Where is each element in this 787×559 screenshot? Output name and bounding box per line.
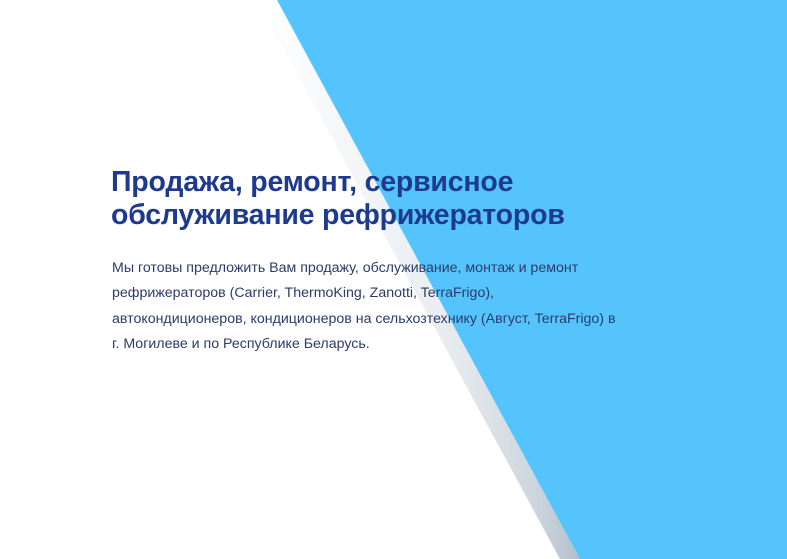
hero-content: Продажа, ремонт, сервисное обслуживание … <box>0 0 787 559</box>
hero-banner: Продажа, ремонт, сервисное обслуживание … <box>0 0 787 559</box>
hero-description: Мы готовы предложить Вам продажу, обслуж… <box>112 256 738 358</box>
hero-heading: Продажа, ремонт, сервисное обслуживание … <box>111 166 711 232</box>
